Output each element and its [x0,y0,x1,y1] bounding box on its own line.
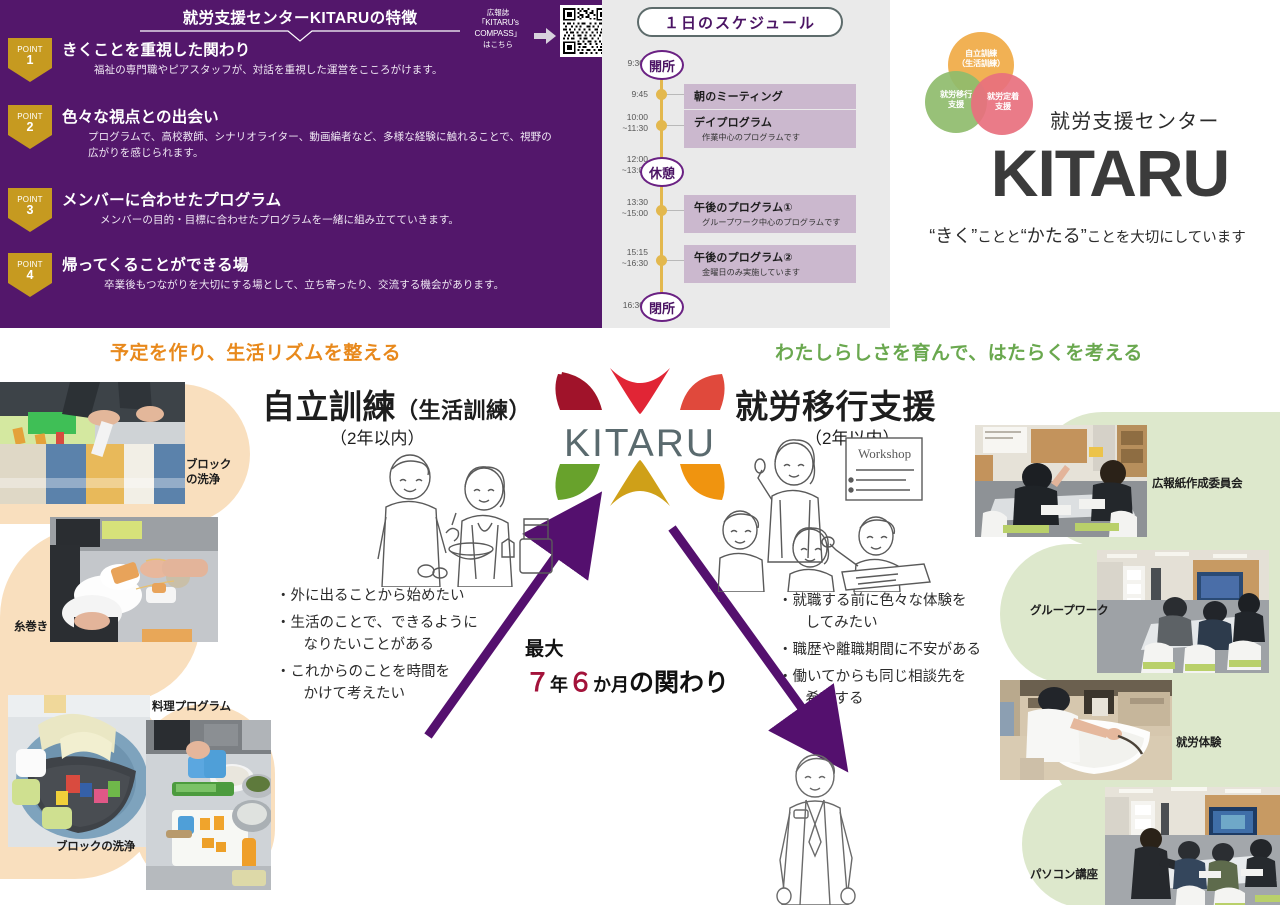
point-heading: 色々な視点との出会い [62,105,219,127]
max-duration-num2: ６ [568,669,593,697]
brand-name: KITARU [945,140,1275,206]
max-duration-suffix: の関わり [629,669,729,697]
brand-tagline-part2: ことと [977,230,1021,246]
point-body: メンバーの目的・目標に合わせたプログラムを一緒に組み立てていきます。 [100,212,600,228]
max-duration-label: 最大 [525,634,755,661]
photo-label-yarn-winding: 糸巻き [14,620,48,635]
venn-label-orange-l1: 自立訓練 [965,49,997,58]
qr-caption: 広報誌 「KITARU's COMPASS」 はこちら [462,8,534,49]
point-badge-4: POINT 4 [8,253,52,297]
lead-text-right: わたしらしさを育んで、はたらくを考える [775,338,1143,365]
service-title-left: 自立訓練（生活訓練） [262,380,531,428]
point-badge-2: POINT 2 [8,105,52,149]
service-title-left-paren: （生活訓練） [396,398,531,423]
service-duration-left: （2年以内） [330,424,424,449]
venn-label-green-l1: 就労移行 [940,90,972,99]
venn-label-pink: 就労定着 支援 [973,92,1033,112]
schedule-item-sub: 作業中心のプログラムです [694,131,856,143]
point-badge-number: 2 [8,120,52,134]
bullets-left: ・外に出ることから始めたい ・生活のことで、できるように なりたいことがある ・… [276,585,526,710]
venn-circles-icon [917,30,1045,140]
svg-text:Workshop: Workshop [858,446,911,461]
schedule-node-close: 閉所 [640,292,684,322]
photo-label-cooking-program: 料理プログラム [152,700,231,715]
point-badge-3: POINT 3 [8,188,52,232]
brand-tagline-part4: ことを大切にしています [1087,230,1246,246]
venn-label-pink-l2: 支援 [995,102,1011,111]
schedule-item-time-1: 9:45 [606,89,648,100]
schedule-item-title: 午後のプログラム② [694,249,856,265]
max-duration-num1: ７ [525,669,550,697]
illustration-businessman [760,750,870,905]
schedule-node-open: 開所 [640,50,684,80]
qr-caption-line1: 広報誌 [462,8,534,18]
bullet-item: ・生活のことで、できるように なりたいことがある [276,612,526,656]
schedule-item-title: 午後のプログラム① [694,199,856,215]
illustration-cooking-pair [360,447,560,587]
bullet-item: ・外に出ることから始めたい [276,585,526,607]
photo-pc-class [1105,787,1280,905]
photo-label-newsletter-committee: 広報紙作成委員会 [1152,477,1242,492]
bullet-item: ・働いてからも同じ相談先を 希望する [778,666,1013,710]
lead-text-left: 予定を作り、生活リズムを整える [110,338,401,365]
illustration-workshop-group: Workshop [718,432,948,592]
schedule-item-time-2: 10:00 ~11:30 [602,112,648,133]
photo-label-work-experience: 就労体験 [1176,736,1221,751]
schedule-item-sub: 金曜日のみ実施しています [694,266,856,278]
schedule-dot-1 [656,89,667,100]
service-title-right: 就労移行支援 [735,380,936,428]
newsletter-qr-block[interactable]: 広報誌 「KITARU's COMPASS」 はこちら [462,4,598,58]
features-title: 就労支援センターKITARUの特徴 [130,6,470,28]
bullet-item: ・これからのことを時間を かけて考えたい [276,661,526,705]
brand-tagline-part3: “かたる” [1021,226,1087,246]
photo-block-washing-2 [8,695,150,847]
schedule-item-title: デイプログラム [694,114,856,130]
photo-newsletter-committee-body [975,425,1147,537]
point-badge-number: 3 [8,203,52,217]
point-heading: メンバーに合わせたプログラム [62,188,281,210]
qr-caption-line3: はこちら [462,40,534,50]
schedule-item-title: 朝のミーティング [694,88,856,104]
schedule-title: １日のスケジュール [637,7,843,37]
poster-root: 就労支援センターKITARUの特徴 広報誌 「KITARU's COMPASS」… [0,0,1280,905]
venn-diagram: 自立訓練 （生活訓練） 就労移行 支援 就労定着 支援 [917,30,1045,140]
features-panel: 就労支援センターKITARUの特徴 広報誌 「KITARU's COMPASS」… [0,0,602,330]
schedule-item-4: 午後のプログラム② 金曜日のみ実施しています [684,245,856,283]
top-band: 就労支援センターKITARUの特徴 広報誌 「KITARU's COMPASS」… [0,0,1280,332]
point-body: 福祉の専門職やピアスタッフが、対話を重視した運営をこころがけます。 [94,62,594,78]
schedule-panel: １日のスケジュール 9:30 開所 9:45 朝のミーティング 10:00 ~1… [602,0,890,330]
venn-label-green-l2: 支援 [948,100,964,109]
bullets-right: ・就職する前に色々な体験を してみたい ・職歴や離職期間に不安がある ・働いてか… [778,590,1013,715]
venn-label-pink-l1: 就労定着 [987,92,1019,101]
point-body: 卒業後もつながりを大切にする場として、立ち寄ったり、交流する機会があります。 [104,277,604,293]
max-duration-unit2: か月 [593,675,629,695]
schedule-dot-2 [656,120,667,131]
venn-label-orange-l2: （生活訓練） [957,59,1005,68]
schedule-dot-3 [656,205,667,216]
photo-label-block-washing-1: ブロックの洗浄 [186,458,246,488]
schedule-time-open: 9:30 [610,58,644,69]
service-title-left-main: 自立訓練 [262,388,396,425]
schedule-item-time-4: 15:15 ~16:30 [602,247,648,268]
schedule-item-1: 朝のミーティング [684,84,856,109]
bullet-item: ・職歴や離職期間に不安がある [778,639,1013,661]
photo-label-pc-class: パソコン講座 [1030,868,1098,883]
venn-label-orange: 自立訓練 （生活訓練） [941,49,1021,69]
brand-block: 自立訓練 （生活訓練） 就労移行 支援 就労定着 支援 就労支援センター KIT… [890,0,1280,330]
bullet-item: ・就職する前に色々な体験を してみたい [778,590,1013,634]
point-heading: 帰ってくることができる場 [62,253,249,275]
photo-label-block-washing-2: ブロックの洗浄 [56,840,135,855]
point-badge-1: POINT 1 [8,38,52,82]
max-duration-value: ７年６か月の関わり [525,663,755,699]
kitaru-mark-icon: KITARU [536,364,744,509]
schedule-time-close: 16:30 [608,300,644,311]
schedule-item-2: デイプログラム 作業中心のプログラムです [684,110,856,148]
photo-yarn-winding-body [50,517,218,642]
point-badge-number: 1 [8,53,52,67]
main-section: ブロックの洗浄 [0,332,1280,905]
schedule-item-3: 午後のプログラム① グループワーク中心のプログラムです [684,195,856,233]
brand-tagline: “きく”ことと“かたる”ことを大切にしています [905,222,1270,248]
point-badge-number: 4 [8,268,52,282]
schedule-node-break: 休憩 [640,157,684,187]
schedule-dot-4 [656,255,667,266]
point-body: プログラムで、高校教師、シナリオライター、動画編者など、多様な経験に触れることで… [88,129,556,162]
photo-work-experience [1000,680,1172,780]
photo-group-work [1097,550,1269,673]
max-duration-block: 最大 ７年６か月の関わり [525,634,755,699]
photo-cooking-program [146,720,271,890]
right-arrow-icon [534,28,556,44]
schedule-item-sub: グループワーク中心のプログラムです [694,216,856,228]
center-logo-text: KITARU [536,422,744,466]
photo-label-group-work: グループワーク [1030,604,1108,619]
qr-caption-line2: 「KITARU's COMPASS」 [462,18,534,40]
brand-subtitle: 就労支援センター [1050,105,1276,134]
features-title-wrap: 就労支援センターKITARUの特徴 [130,6,470,28]
brand-tagline-part1: “きく” [929,226,977,246]
photo-block-washing-1 [0,382,185,504]
point-heading: きくことを重視した関わり [62,38,250,60]
max-duration-unit1: 年 [550,675,568,695]
schedule-item-time-3: 13:30 ~15:00 [602,197,648,218]
